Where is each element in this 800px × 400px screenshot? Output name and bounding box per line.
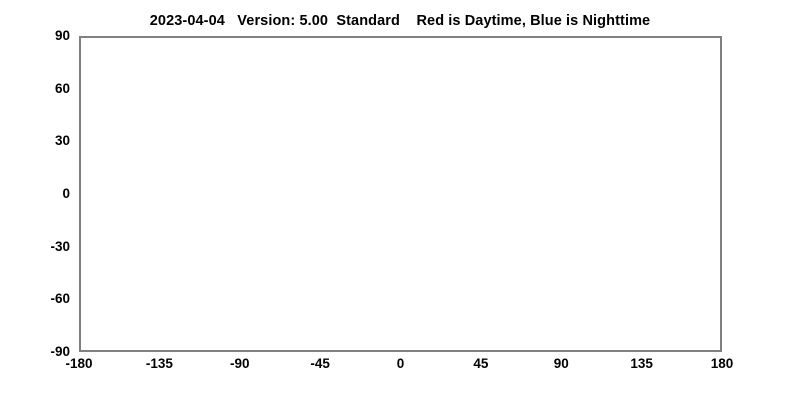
x-tick-label: -90: [200, 357, 280, 371]
x-tick-label: 0: [361, 357, 441, 371]
y-tick-label: 60: [0, 82, 70, 96]
y-tick-label: -30: [0, 240, 70, 254]
x-tick-label: -180: [39, 357, 119, 371]
x-tick-label: -45: [280, 357, 360, 371]
chart-root: 2023-04-04 Version: 5.00 Standard Red is…: [0, 0, 800, 400]
plot-area: [79, 36, 722, 352]
x-tick-label: 180: [682, 357, 762, 371]
chart-title: 2023-04-04 Version: 5.00 Standard Red is…: [0, 13, 800, 29]
x-tick-label: 45: [441, 357, 521, 371]
y-tick-label: -60: [0, 292, 70, 306]
x-tick-label: 135: [602, 357, 682, 371]
y-tick-label: 0: [0, 187, 70, 201]
y-tick-label: 90: [0, 29, 70, 43]
plot-frame: [79, 36, 722, 352]
x-tick-label: 90: [521, 357, 601, 371]
x-tick-label: -135: [119, 357, 199, 371]
y-tick-label: 30: [0, 134, 70, 148]
